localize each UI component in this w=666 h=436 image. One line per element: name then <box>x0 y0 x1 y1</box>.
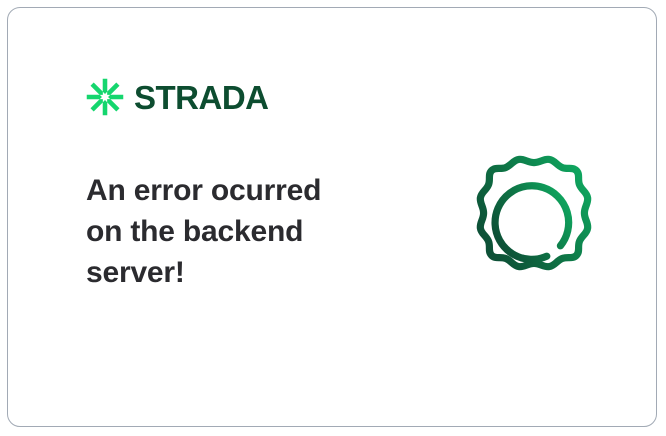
brand-wordmark: STRADA <box>134 81 269 114</box>
error-message: An error ocurred on the backend server! <box>86 170 386 293</box>
error-message-line-1: An error ocurred <box>86 170 386 211</box>
gear-icon <box>454 144 614 314</box>
strada-asterisk-icon <box>86 78 124 116</box>
brand-logo: STRADA <box>86 78 269 116</box>
error-message-line-2: on the backend <box>86 211 386 252</box>
error-card: STRADA An error ocurred on the backend s… <box>7 7 657 427</box>
error-message-line-3: server! <box>86 252 386 293</box>
